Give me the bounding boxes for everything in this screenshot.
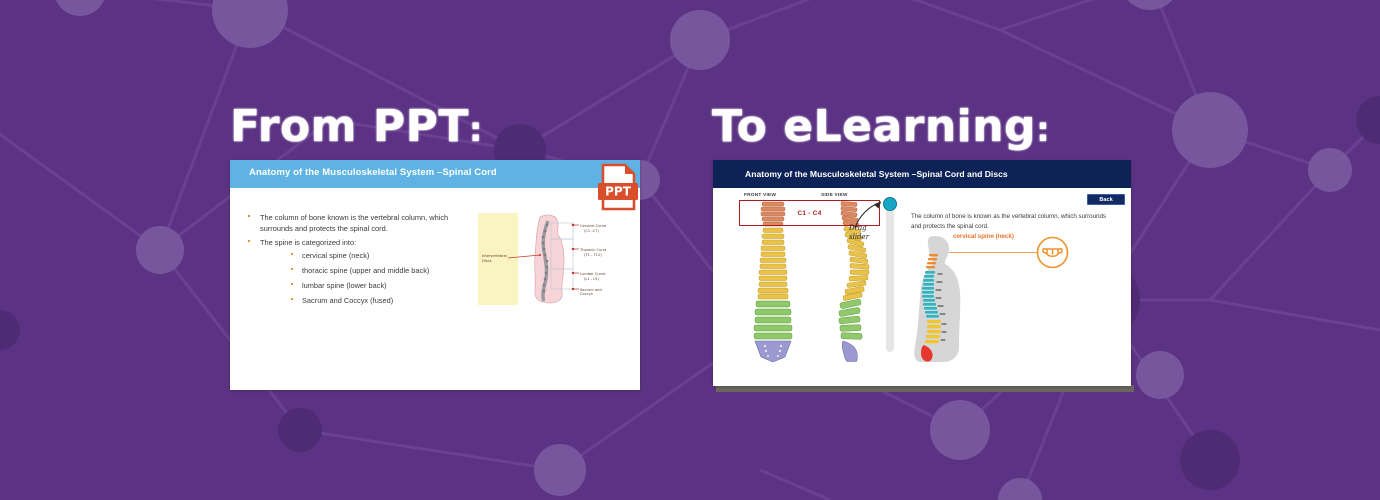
- elearning-body-text: The column of bone is known as the verte…: [911, 212, 1111, 231]
- elearning-slide-shadow: [716, 385, 1134, 392]
- svg-text:Intervertebral: Intervertebral: [482, 254, 507, 258]
- elearning-slide: Anatomy of the Musculoskeletal System –S…: [713, 160, 1131, 386]
- cervical-spine-callout-label: cervical spine (neck): [953, 233, 1014, 240]
- drag-slider-annotation: Drag slider: [849, 224, 869, 242]
- heading-to-elearning: To eLearning:: [712, 101, 1050, 152]
- ppt-file-icon: PPT: [595, 163, 641, 211]
- ppt-sub-bullet-list: cervical spine (neck) thoracic spine (up…: [260, 250, 459, 306]
- svg-text:Cervical Curve: Cervical Curve: [580, 224, 606, 228]
- sub-bullet-text: Sacrum and Coccyx (fused): [302, 296, 393, 305]
- svg-text:Lumbar Curve: Lumbar Curve: [580, 272, 606, 276]
- bullet-text: The spine is categorized into:: [260, 238, 356, 247]
- sub-bullet-item: cervical spine (neck): [288, 250, 459, 261]
- spinal-curvature-diagram: Intervertebral Discs Cervical Curve(C1 -…: [478, 213, 606, 305]
- vertebra-icon[interactable]: [1036, 236, 1069, 269]
- vertical-slider-track[interactable]: [886, 200, 894, 352]
- svg-text:(T1 - T12): (T1 - T12): [584, 253, 602, 257]
- bullet-item: The spine is categorized into: cervical …: [244, 237, 459, 306]
- svg-text:PPT: PPT: [605, 185, 632, 199]
- bullet-dot-icon: [248, 215, 250, 217]
- sub-bullet-item: Sacrum and Coccyx (fused): [288, 295, 459, 306]
- svg-text:Coccyx: Coccyx: [580, 292, 594, 296]
- sub-bullet-text: thoracic spine (upper and middle back): [302, 266, 429, 275]
- svg-text:Discs: Discs: [482, 259, 492, 263]
- heading-to-elearning-colon: :: [1036, 110, 1050, 150]
- ppt-slide-title: Anatomy of the Musculoskeletal System –S…: [249, 167, 497, 178]
- bullet-dot-icon: [291, 283, 293, 285]
- heading-from-ppt-colon: :: [469, 110, 483, 150]
- bullet-dot-icon: [291, 298, 293, 300]
- network-background-pattern: [0, 0, 1380, 500]
- drag-annotation-line1: Drag: [849, 224, 869, 233]
- bullet-dot-icon: [291, 268, 293, 270]
- drag-annotation-line2: slider: [849, 233, 869, 242]
- svg-text:(C1 -C7): (C1 -C7): [584, 229, 599, 233]
- heading-to-elearning-text: To eLearning: [712, 101, 1036, 152]
- sub-bullet-item: lumbar spine (lower back): [288, 280, 459, 291]
- powerpoint-slide: Anatomy of the Musculoskeletal System –S…: [230, 160, 640, 390]
- ppt-bullet-list: The column of bone known is the vertebra…: [244, 212, 459, 309]
- heading-from-ppt: From PPT:: [230, 101, 483, 152]
- svg-text:Thoracic Curve: Thoracic Curve: [579, 248, 606, 252]
- back-button[interactable]: Back: [1087, 194, 1125, 205]
- elearning-slide-title: Anatomy of the Musculoskeletal System –S…: [745, 169, 1008, 179]
- bullet-text: The column of bone known is the vertebra…: [260, 213, 448, 233]
- heading-from-ppt-text: From PPT: [230, 101, 469, 152]
- sub-bullet-text: lumbar spine (lower back): [302, 281, 387, 290]
- bullet-item: The column of bone known is the vertebra…: [244, 212, 459, 235]
- sub-bullet-item: thoracic spine (upper and middle back): [288, 265, 459, 276]
- bullet-dot-icon: [248, 240, 250, 242]
- slide-canvas: From PPT: To eLearning: Anatomy of the M…: [0, 0, 1380, 500]
- bullet-dot-icon: [291, 253, 293, 255]
- sub-bullet-text: cervical spine (neck): [302, 251, 369, 260]
- svg-text:(L1 - L5): (L1 - L5): [584, 277, 600, 281]
- callout-leader-line: [949, 252, 1041, 253]
